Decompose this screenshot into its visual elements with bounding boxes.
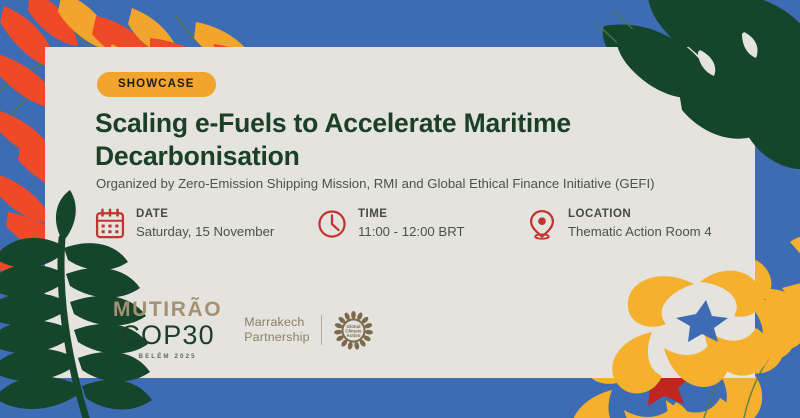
page-title: Scaling e-Fuels to Accelerate Maritime D… (95, 107, 715, 173)
meta-value-date: Saturday, 15 November (136, 223, 274, 241)
organizers-line: Organized by Zero-Emission Shipping Miss… (96, 175, 746, 192)
meta-text-date: DATE Saturday, 15 November (136, 207, 274, 240)
marrakech-line-2: Partnership (244, 330, 310, 345)
meta-label-location: LOCATION (568, 207, 712, 223)
location-pin-icon (527, 208, 557, 240)
cop30-wordmark: COP30 (113, 321, 222, 350)
logo-strip: MUTIRÃO COP30 BELÉM 2025 Marrakech Partn… (113, 295, 374, 365)
cop30-belem-text: BELÉM 2025 (113, 354, 222, 360)
marrakech-line-1: Marrakech (244, 315, 310, 330)
marrakech-partnership-text: Marrakech Partnership (244, 315, 322, 344)
meta-text-time: TIME 11:00 - 12:00 BRT (358, 207, 465, 240)
meta-item-date: DATE Saturday, 15 November (95, 207, 274, 240)
meta-item-location: LOCATION Thematic Action Room 4 (527, 207, 712, 240)
meta-item-time: TIME 11:00 - 12:00 BRT (317, 207, 465, 240)
gca-line-3: Action (346, 333, 360, 338)
meta-text-location: LOCATION Thematic Action Room 4 (568, 207, 712, 240)
card-content: SHOWCASE Scaling e-Fuels to Accelerate M… (45, 47, 755, 378)
meta-label-time: TIME (358, 207, 465, 223)
clock-icon (317, 208, 347, 240)
showcase-badge: SHOWCASE (97, 72, 216, 97)
calendar-icon (95, 208, 125, 240)
meta-value-time: 11:00 - 12:00 BRT (358, 223, 465, 241)
global-climate-action-emblem-icon: Global Climate Action (333, 310, 374, 351)
marrakech-partnership-logo: Marrakech Partnership (244, 310, 374, 351)
cop30-mutirao-text: MUTIRÃO (113, 299, 222, 320)
event-poster: SHOWCASE Scaling e-Fuels to Accelerate M… (0, 0, 800, 418)
meta-value-location: Thematic Action Room 4 (568, 223, 712, 241)
cop30-logo: MUTIRÃO COP30 BELÉM 2025 (113, 299, 222, 360)
event-meta-row: DATE Saturday, 15 November TIME 11:00 - … (95, 207, 745, 255)
meta-label-date: DATE (136, 207, 274, 223)
